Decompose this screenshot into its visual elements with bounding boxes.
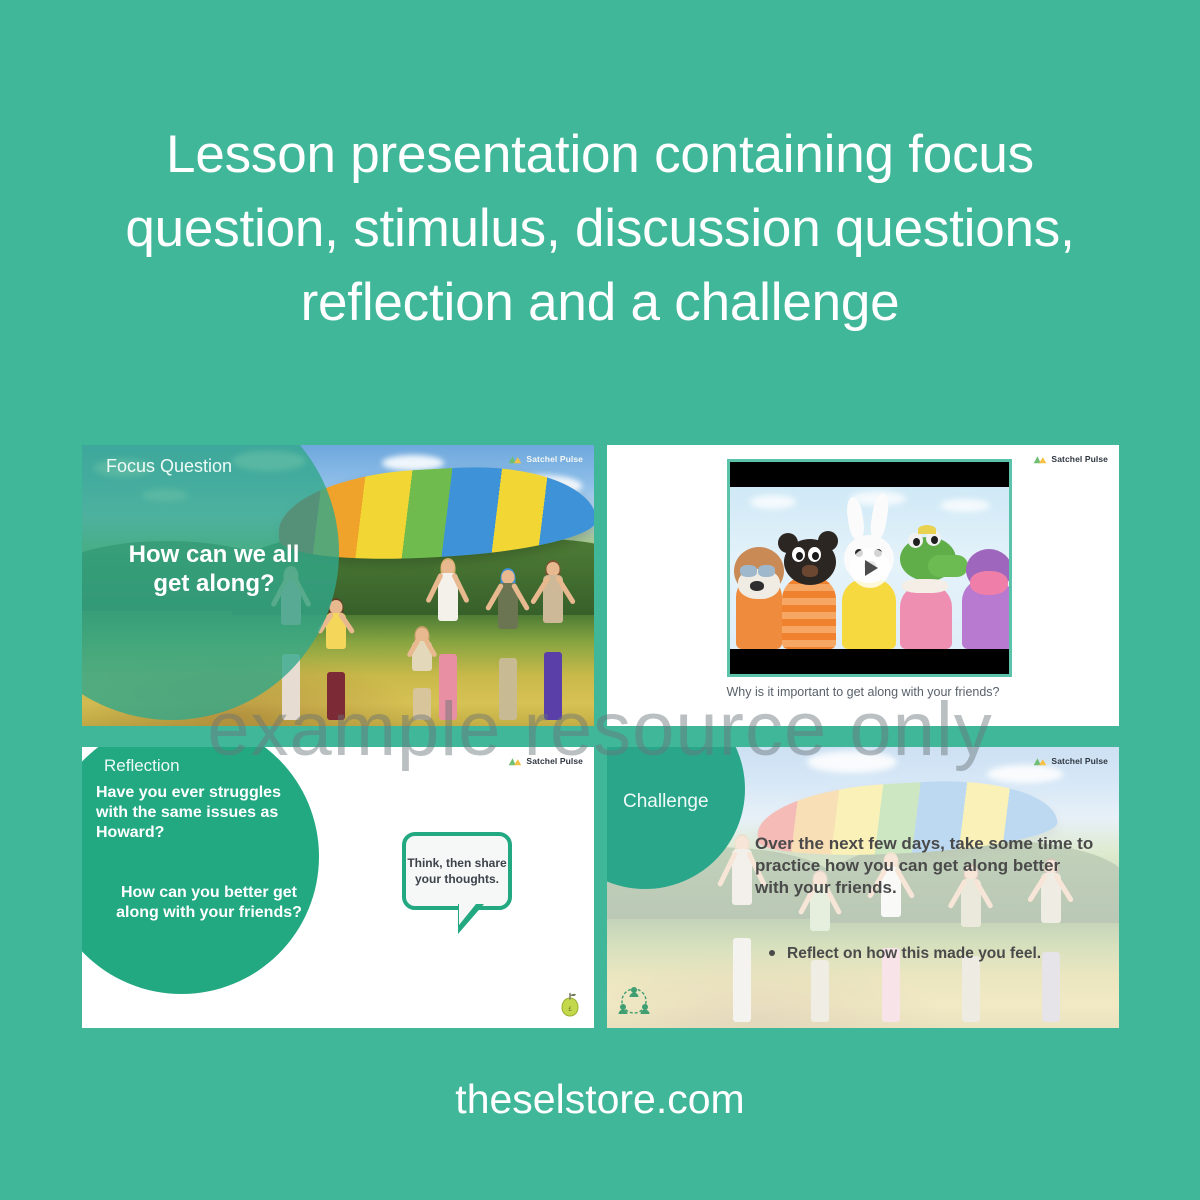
mountain-logo-icon (1033, 756, 1047, 766)
speech-bubble-text: Think, then share your thoughts. (406, 855, 508, 887)
speech-bubble: Think, then share your thoughts. (402, 832, 512, 910)
reflection-question-2: How can you better get along with your f… (110, 883, 308, 923)
brand-name: Satchel Pulse (1051, 454, 1108, 464)
challenge-bullet-text: Reflect on how this made you feel. (787, 945, 1041, 962)
pear-icon: £ (560, 992, 580, 1018)
video-still-cartoon-animals (730, 487, 1009, 649)
teamwork-network-icon (617, 984, 651, 1016)
slide-label-challenge: Challenge (623, 791, 709, 813)
brand-name: Satchel Pulse (1051, 756, 1108, 766)
video-thumbnail[interactable] (727, 459, 1012, 677)
mountain-logo-icon (508, 454, 522, 464)
mountain-logo-icon (1033, 454, 1047, 464)
brand-lockup: Satchel Pulse (508, 454, 583, 464)
page-title: Lesson presentation containing focus que… (0, 118, 1200, 340)
challenge-body-text: Over the next few days, take some time t… (755, 833, 1095, 899)
slide-challenge[interactable]: Satchel Pulse Challenge Over the next fe… (607, 747, 1119, 1028)
slide-label-reflection: Reflection (104, 756, 180, 776)
brand-name: Satchel Pulse (526, 454, 583, 464)
animal-bear (778, 517, 840, 649)
footer-site-url: theselstore.com (0, 1076, 1200, 1123)
slide-focus-question[interactable]: Focus Question How can we all get along?… (82, 445, 594, 726)
bullet-dot-icon (769, 950, 775, 956)
slide-reflection[interactable]: Satchel Pulse Reflection Have you ever s… (82, 747, 594, 1028)
brand-lockup: Satchel Pulse (508, 756, 583, 766)
brand-name: Satchel Pulse (526, 756, 583, 766)
brand-lockup: Satchel Pulse (1033, 756, 1108, 766)
speech-bubble-tail-inner (459, 904, 476, 925)
slide-label-focus-question: Focus Question (106, 456, 232, 477)
focus-question-text: How can we all get along? (114, 540, 314, 598)
slide-gallery: Focus Question How can we all get along?… (82, 445, 1119, 1030)
reflection-question-1: Have you ever struggles with the same is… (96, 783, 296, 843)
animal-hippo (962, 531, 1009, 649)
challenge-bullet-item: Reflect on how this made you feel. (787, 943, 1097, 964)
animal-crocodile (898, 523, 968, 649)
mountain-logo-icon (508, 756, 522, 766)
stimulus-caption: Why is it important to get along with yo… (607, 684, 1119, 700)
brand-lockup: Satchel Pulse (1033, 454, 1108, 464)
play-button-icon[interactable] (850, 548, 890, 588)
slide-stimulus[interactable]: Satchel Pulse (607, 445, 1119, 726)
